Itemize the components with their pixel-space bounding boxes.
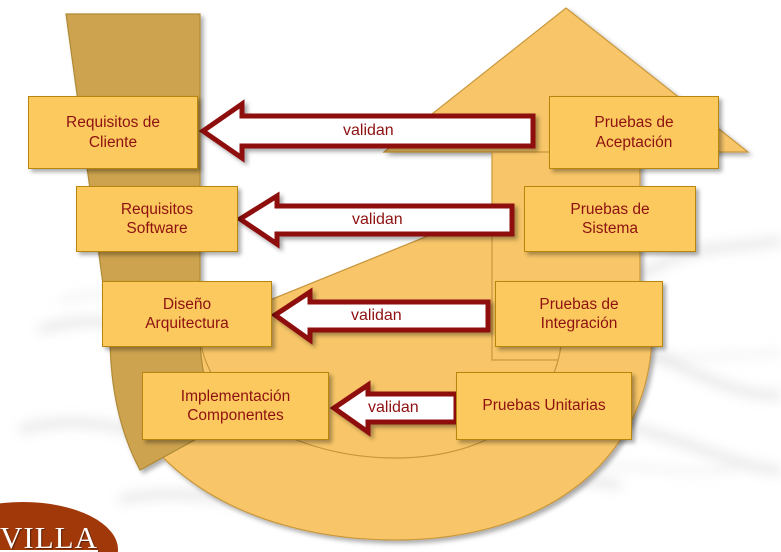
stage-box-pruebas-integracion[interactable]: Pruebas de Integración [495, 281, 663, 347]
relation-label-validan-1: validan [343, 122, 394, 140]
stage-box-requisitos-software[interactable]: Requisitos Software [76, 186, 238, 252]
logo-label: VILLA [0, 520, 98, 552]
relation-label-validan-2: validan [352, 211, 403, 229]
v-model-band [0, 0, 781, 552]
stage-box-pruebas-sistema[interactable]: Pruebas de Sistema [524, 186, 696, 252]
stage-box-diseno-arquitectura[interactable]: Diseño Arquitectura [102, 281, 272, 347]
relation-label-validan-3: validan [351, 307, 402, 325]
stage-box-requisitos-cliente[interactable]: Requisitos de Cliente [28, 96, 198, 169]
stage-box-pruebas-aceptacion[interactable]: Pruebas de Aceptación [549, 96, 719, 169]
background-watermark [0, 0, 781, 552]
v-model-diagram-slide: Requisitos de Cliente Requisitos Softwar… [0, 0, 781, 552]
validan-arrows [0, 0, 781, 552]
relation-label-validan-4: validan [368, 399, 419, 417]
stage-box-implementacion-componentes[interactable]: Implementación Componentes [142, 372, 329, 440]
stage-box-pruebas-unitarias[interactable]: Pruebas Unitarias [456, 372, 632, 440]
